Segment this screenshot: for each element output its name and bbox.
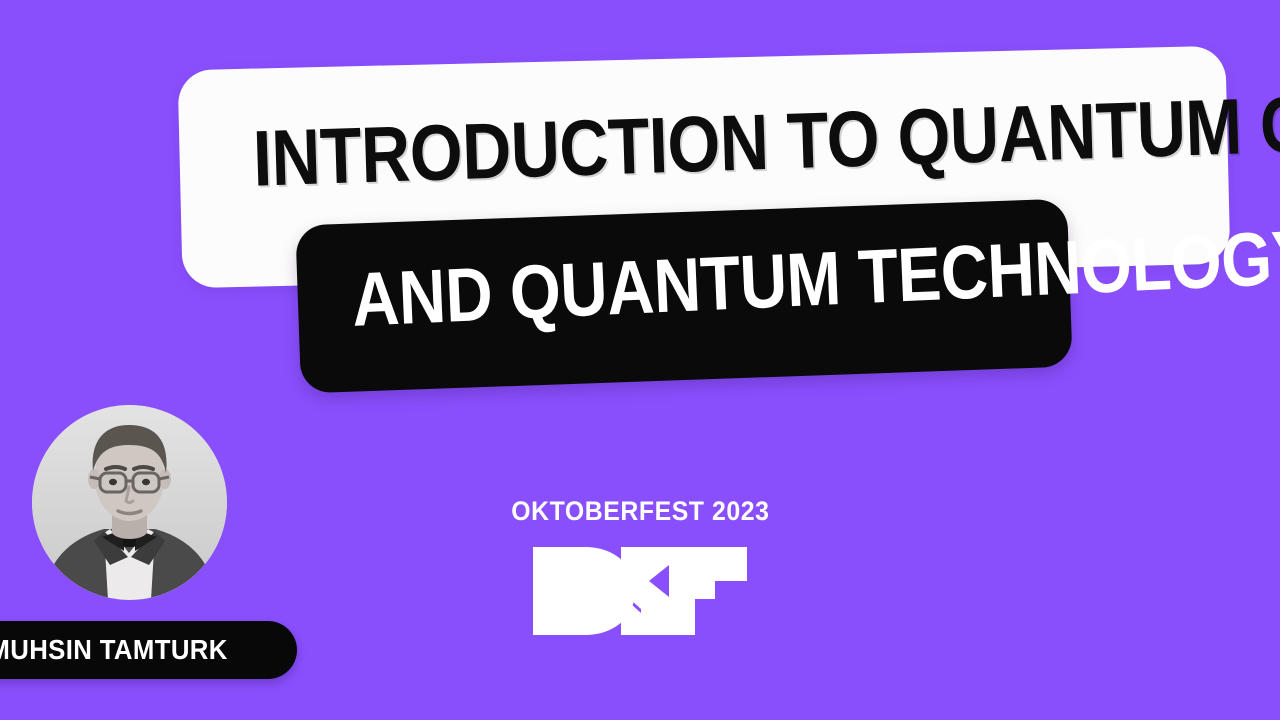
avatar [32, 405, 227, 600]
dsf-logo-icon [529, 545, 751, 637]
title-line-1: INTRODUCTION TO QUANTUM COMPUTING [252, 89, 1155, 197]
speaker-name-badge: MUHSIN TAMTURK [0, 621, 297, 679]
speaker-name-label: MUHSIN TAMTURK [0, 634, 228, 666]
title-line-2: AND QUANTUM TECHNOLOGY [350, 233, 1016, 339]
event-name: OKTOBERFEST 2023 [511, 496, 769, 527]
title-card-secondary: AND QUANTUM TECHNOLOGY [295, 199, 1072, 394]
slide-canvas: INTRODUCTION TO QUANTUM COMPUTING AND QU… [0, 0, 1280, 720]
